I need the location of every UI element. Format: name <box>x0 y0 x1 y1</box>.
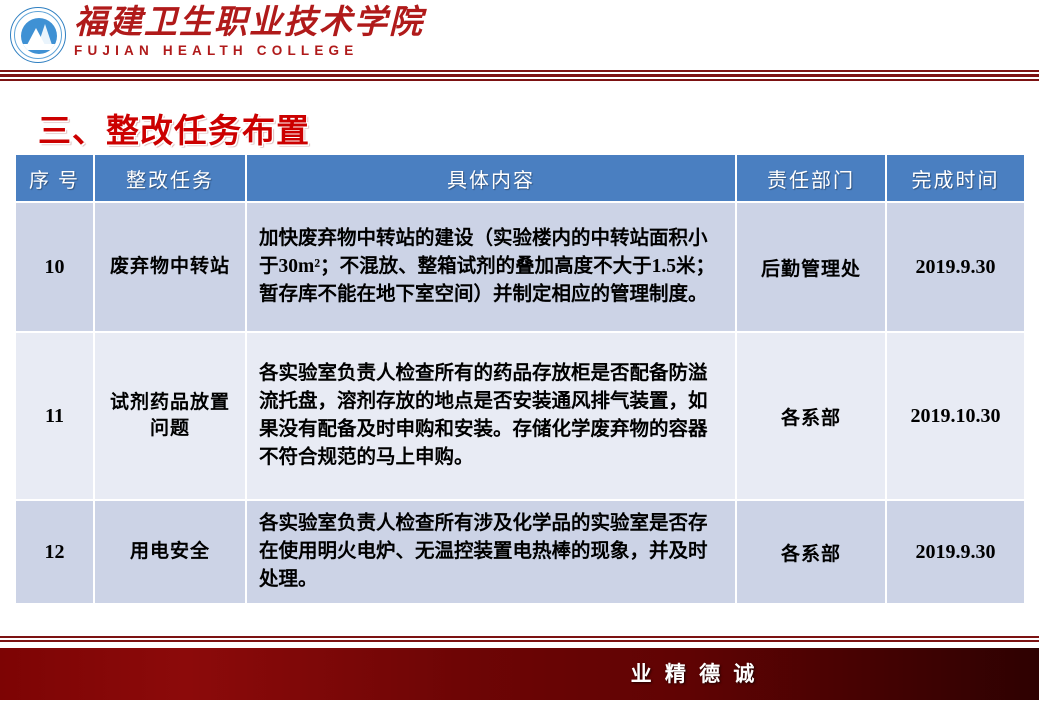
column-header-content: 具体内容 <box>246 155 736 202</box>
seal-water-band <box>21 44 57 50</box>
column-header-task: 整改任务 <box>94 155 246 202</box>
footer-motto: 业 精 德 诚 <box>0 648 1039 700</box>
seal-disc <box>21 18 57 54</box>
footer-rule-2 <box>0 640 1039 642</box>
fujian-health-college-seal-icon <box>10 7 66 63</box>
cell-time: 2019.9.30 <box>886 202 1024 332</box>
cell-no: 12 <box>16 500 94 603</box>
cell-no: 10 <box>16 202 94 332</box>
table-row: 12 用电安全 各实验室负责人检查所有涉及化学品的实验室是否存在使用明火电炉、无… <box>16 500 1024 603</box>
table-row: 10 废弃物中转站 加快废弃物中转站的建设（实验楼内的中转站面积小于30m²；不… <box>16 202 1024 332</box>
cell-dept: 后勤管理处 <box>736 202 886 332</box>
column-header-no: 序 号 <box>16 155 94 202</box>
seal-mountain-front-icon <box>27 28 45 45</box>
institution-name-cn: 福建卫生职业技术学院 <box>74 4 424 42</box>
table-header-row: 序 号 整改任务 具体内容 责任部门 完成时间 <box>16 155 1024 202</box>
cell-task: 试剂药品放置问题 <box>94 332 246 500</box>
cell-task: 用电安全 <box>94 500 246 603</box>
footer-band: 业 精 德 诚 <box>0 648 1039 700</box>
header-divider <box>0 70 1039 81</box>
header-rule-3 <box>0 79 1039 81</box>
rectification-task-table: 序 号 整改任务 具体内容 责任部门 完成时间 10 废弃物中转站 加快废弃物中… <box>16 155 1024 603</box>
institution-wordmark: 福建卫生职业技术学院 FUJIAN HEALTH COLLEGE <box>74 4 424 59</box>
cell-time: 2019.9.30 <box>886 500 1024 603</box>
cell-content: 各实验室负责人检查所有的药品存放柜是否配备防溢流托盘，溶剂存放的地点是否安装通风… <box>246 332 736 500</box>
table-row: 11 试剂药品放置问题 各实验室负责人检查所有的药品存放柜是否配备防溢流托盘，溶… <box>16 332 1024 500</box>
cell-dept: 各系部 <box>736 332 886 500</box>
cell-time: 2019.10.30 <box>886 332 1024 500</box>
cell-content: 各实验室负责人检查所有涉及化学品的实验室是否存在使用明火电炉、无温控装置电热棒的… <box>246 500 736 603</box>
cell-dept: 各系部 <box>736 500 886 603</box>
cell-content: 加快废弃物中转站的建设（实验楼内的中转站面积小于30m²；不混放、整箱试剂的叠加… <box>246 202 736 332</box>
column-header-time: 完成时间 <box>886 155 1024 202</box>
cell-task: 废弃物中转站 <box>94 202 246 332</box>
page-title: 三、整改任务布置 <box>38 104 310 152</box>
institution-name-en: FUJIAN HEALTH COLLEGE <box>74 43 424 59</box>
column-header-dept: 责任部门 <box>736 155 886 202</box>
cell-no: 11 <box>16 332 94 500</box>
page-masthead: 福建卫生职业技术学院 FUJIAN HEALTH COLLEGE <box>0 0 1039 64</box>
footer-divider <box>0 636 1039 642</box>
